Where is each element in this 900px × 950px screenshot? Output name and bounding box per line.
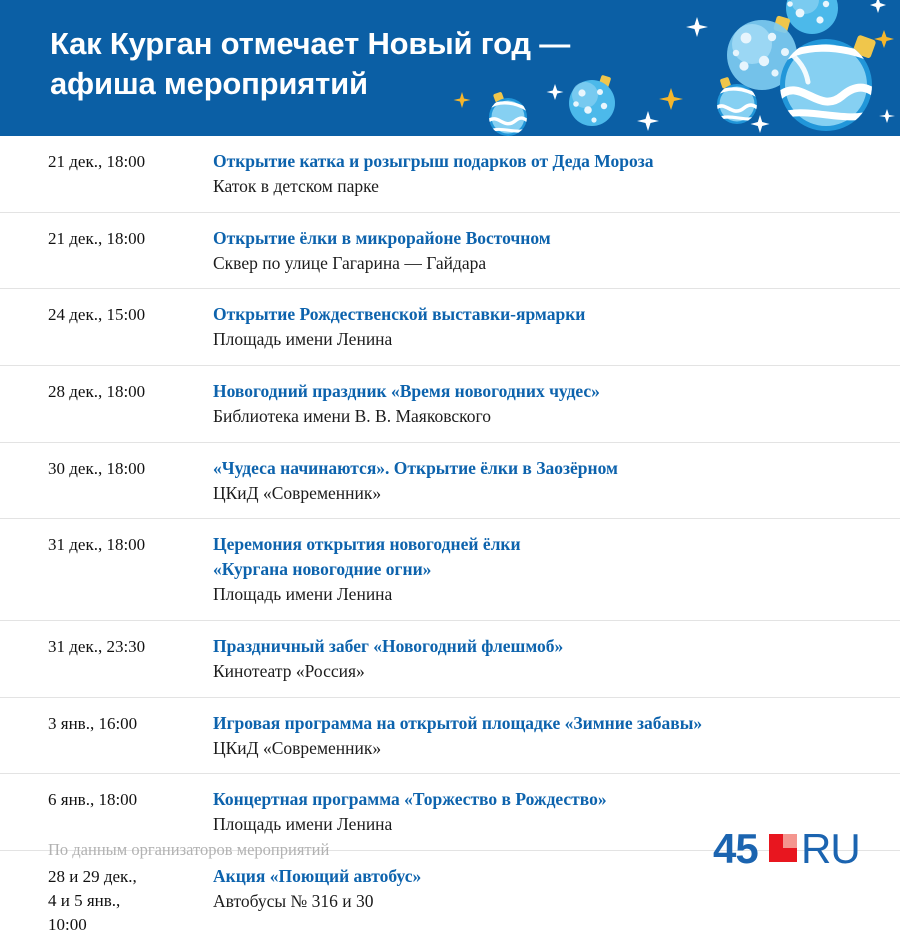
event-body: Открытие катка и розыгрыш подарков от Де… — [210, 149, 865, 199]
logo-45ru-icon: 45 RU — [713, 828, 865, 872]
infographic-poster: Как Курган отмечает Новый год — афиша ме… — [0, 0, 900, 900]
event-title: Церемония открытия новогодней ёлки «Кург… — [213, 532, 865, 582]
event-title: Открытие катка и розыгрыш подарков от Де… — [213, 149, 865, 174]
table-row: 30 дек., 18:00 «Чудеса начинаются». Откр… — [0, 443, 900, 520]
event-place: Площадь имени Ленина — [213, 582, 865, 607]
event-datetime: 24 дек., 15:00 — [48, 302, 210, 327]
table-row: 24 дек., 15:00 Открытие Рождественской в… — [0, 289, 900, 366]
event-place: Каток в детском парке — [213, 174, 865, 199]
table-row: 3 янв., 16:00 Игровая программа на откры… — [0, 698, 900, 775]
event-body: Праздничный забег «Новогодний флешмоб» К… — [210, 634, 865, 684]
event-datetime: 21 дек., 18:00 — [48, 149, 210, 174]
page-title: Как Курган отмечает Новый год — афиша ме… — [50, 24, 690, 103]
source-note: По данным организаторов мероприятий — [48, 839, 329, 860]
event-title: Игровая программа на открытой площадке «… — [213, 711, 865, 736]
ornament-dotted-top — [786, 0, 838, 34]
event-body: «Чудеса начинаются». Открытие ёлки в Зао… — [210, 456, 865, 506]
event-title: Открытие ёлки в микрорайоне Восточном — [213, 226, 865, 251]
event-body: Открытие Рождественской выставки-ярмарки… — [210, 302, 865, 352]
event-title: «Чудеса начинаются». Открытие ёлки в Зао… — [213, 456, 865, 481]
sparkle-white-icon — [637, 111, 659, 131]
svg-text:RU: RU — [801, 828, 860, 872]
event-place: ЦКиД «Современник» — [213, 736, 865, 761]
event-body: Новогодний праздник «Время новогодних чу… — [210, 379, 865, 429]
event-place: Площадь имени Ленина — [213, 327, 865, 352]
event-title: Праздничный забег «Новогодний флешмоб» — [213, 634, 865, 659]
event-datetime: 28 дек., 18:00 — [48, 379, 210, 404]
table-row: 21 дек., 18:00 Открытие ёлки в микрорайо… — [0, 213, 900, 290]
event-title: Новогодний праздник «Время новогодних чу… — [213, 379, 865, 404]
event-place: Автобусы № 316 и 30 — [213, 889, 865, 914]
ornament-striped-large — [777, 34, 878, 131]
sparkle-white-icon — [870, 0, 886, 13]
sparkle-gold-icon — [874, 30, 894, 48]
event-place: Сквер по улице Гагарина — Гайдара — [213, 251, 865, 276]
event-body: Церемония открытия новогодней ёлки «Кург… — [210, 532, 865, 607]
table-row: 31 дек., 18:00 Церемония открытия нового… — [0, 519, 900, 621]
site-logo-45ru[interactable]: 45 RU — [713, 828, 865, 872]
ornament-striped-small — [716, 77, 759, 124]
sparkle-white-icon — [879, 109, 895, 123]
table-row: 28 дек., 18:00 Новогодний праздник «Врем… — [0, 366, 900, 443]
svg-text:45: 45 — [713, 828, 758, 872]
event-place: Библиотека имени В. В. Маяковского — [213, 404, 865, 429]
event-datetime: 6 янв., 18:00 — [48, 787, 210, 812]
event-title: Открытие Рождественской выставки-ярмарки — [213, 302, 865, 327]
sparkle-white-icon — [751, 115, 770, 133]
poster-footer: По данным организаторов мероприятий 45 R… — [0, 822, 900, 878]
event-datetime: 30 дек., 18:00 — [48, 456, 210, 481]
event-place: Кинотеатр «Россия» — [213, 659, 865, 684]
event-title: Концертная программа «Торжество в Рождес… — [213, 787, 865, 812]
event-body: Игровая программа на открытой площадке «… — [210, 711, 865, 761]
event-place: ЦКиД «Современник» — [213, 481, 865, 506]
poster-header: Как Курган отмечает Новый год — афиша ме… — [0, 0, 900, 136]
ornament-dotted-large — [727, 15, 797, 90]
table-row: 31 дек., 23:30 Праздничный забег «Нового… — [0, 621, 900, 698]
event-body: Открытие ёлки в микрорайоне Восточном Ск… — [210, 226, 865, 276]
event-datetime: 31 дек., 18:00 — [48, 532, 210, 557]
event-datetime: 3 янв., 16:00 — [48, 711, 210, 736]
event-datetime: 21 дек., 18:00 — [48, 226, 210, 251]
table-row: 21 дек., 18:00 Открытие катка и розыгрыш… — [0, 136, 900, 213]
event-datetime: 31 дек., 23:30 — [48, 634, 210, 659]
